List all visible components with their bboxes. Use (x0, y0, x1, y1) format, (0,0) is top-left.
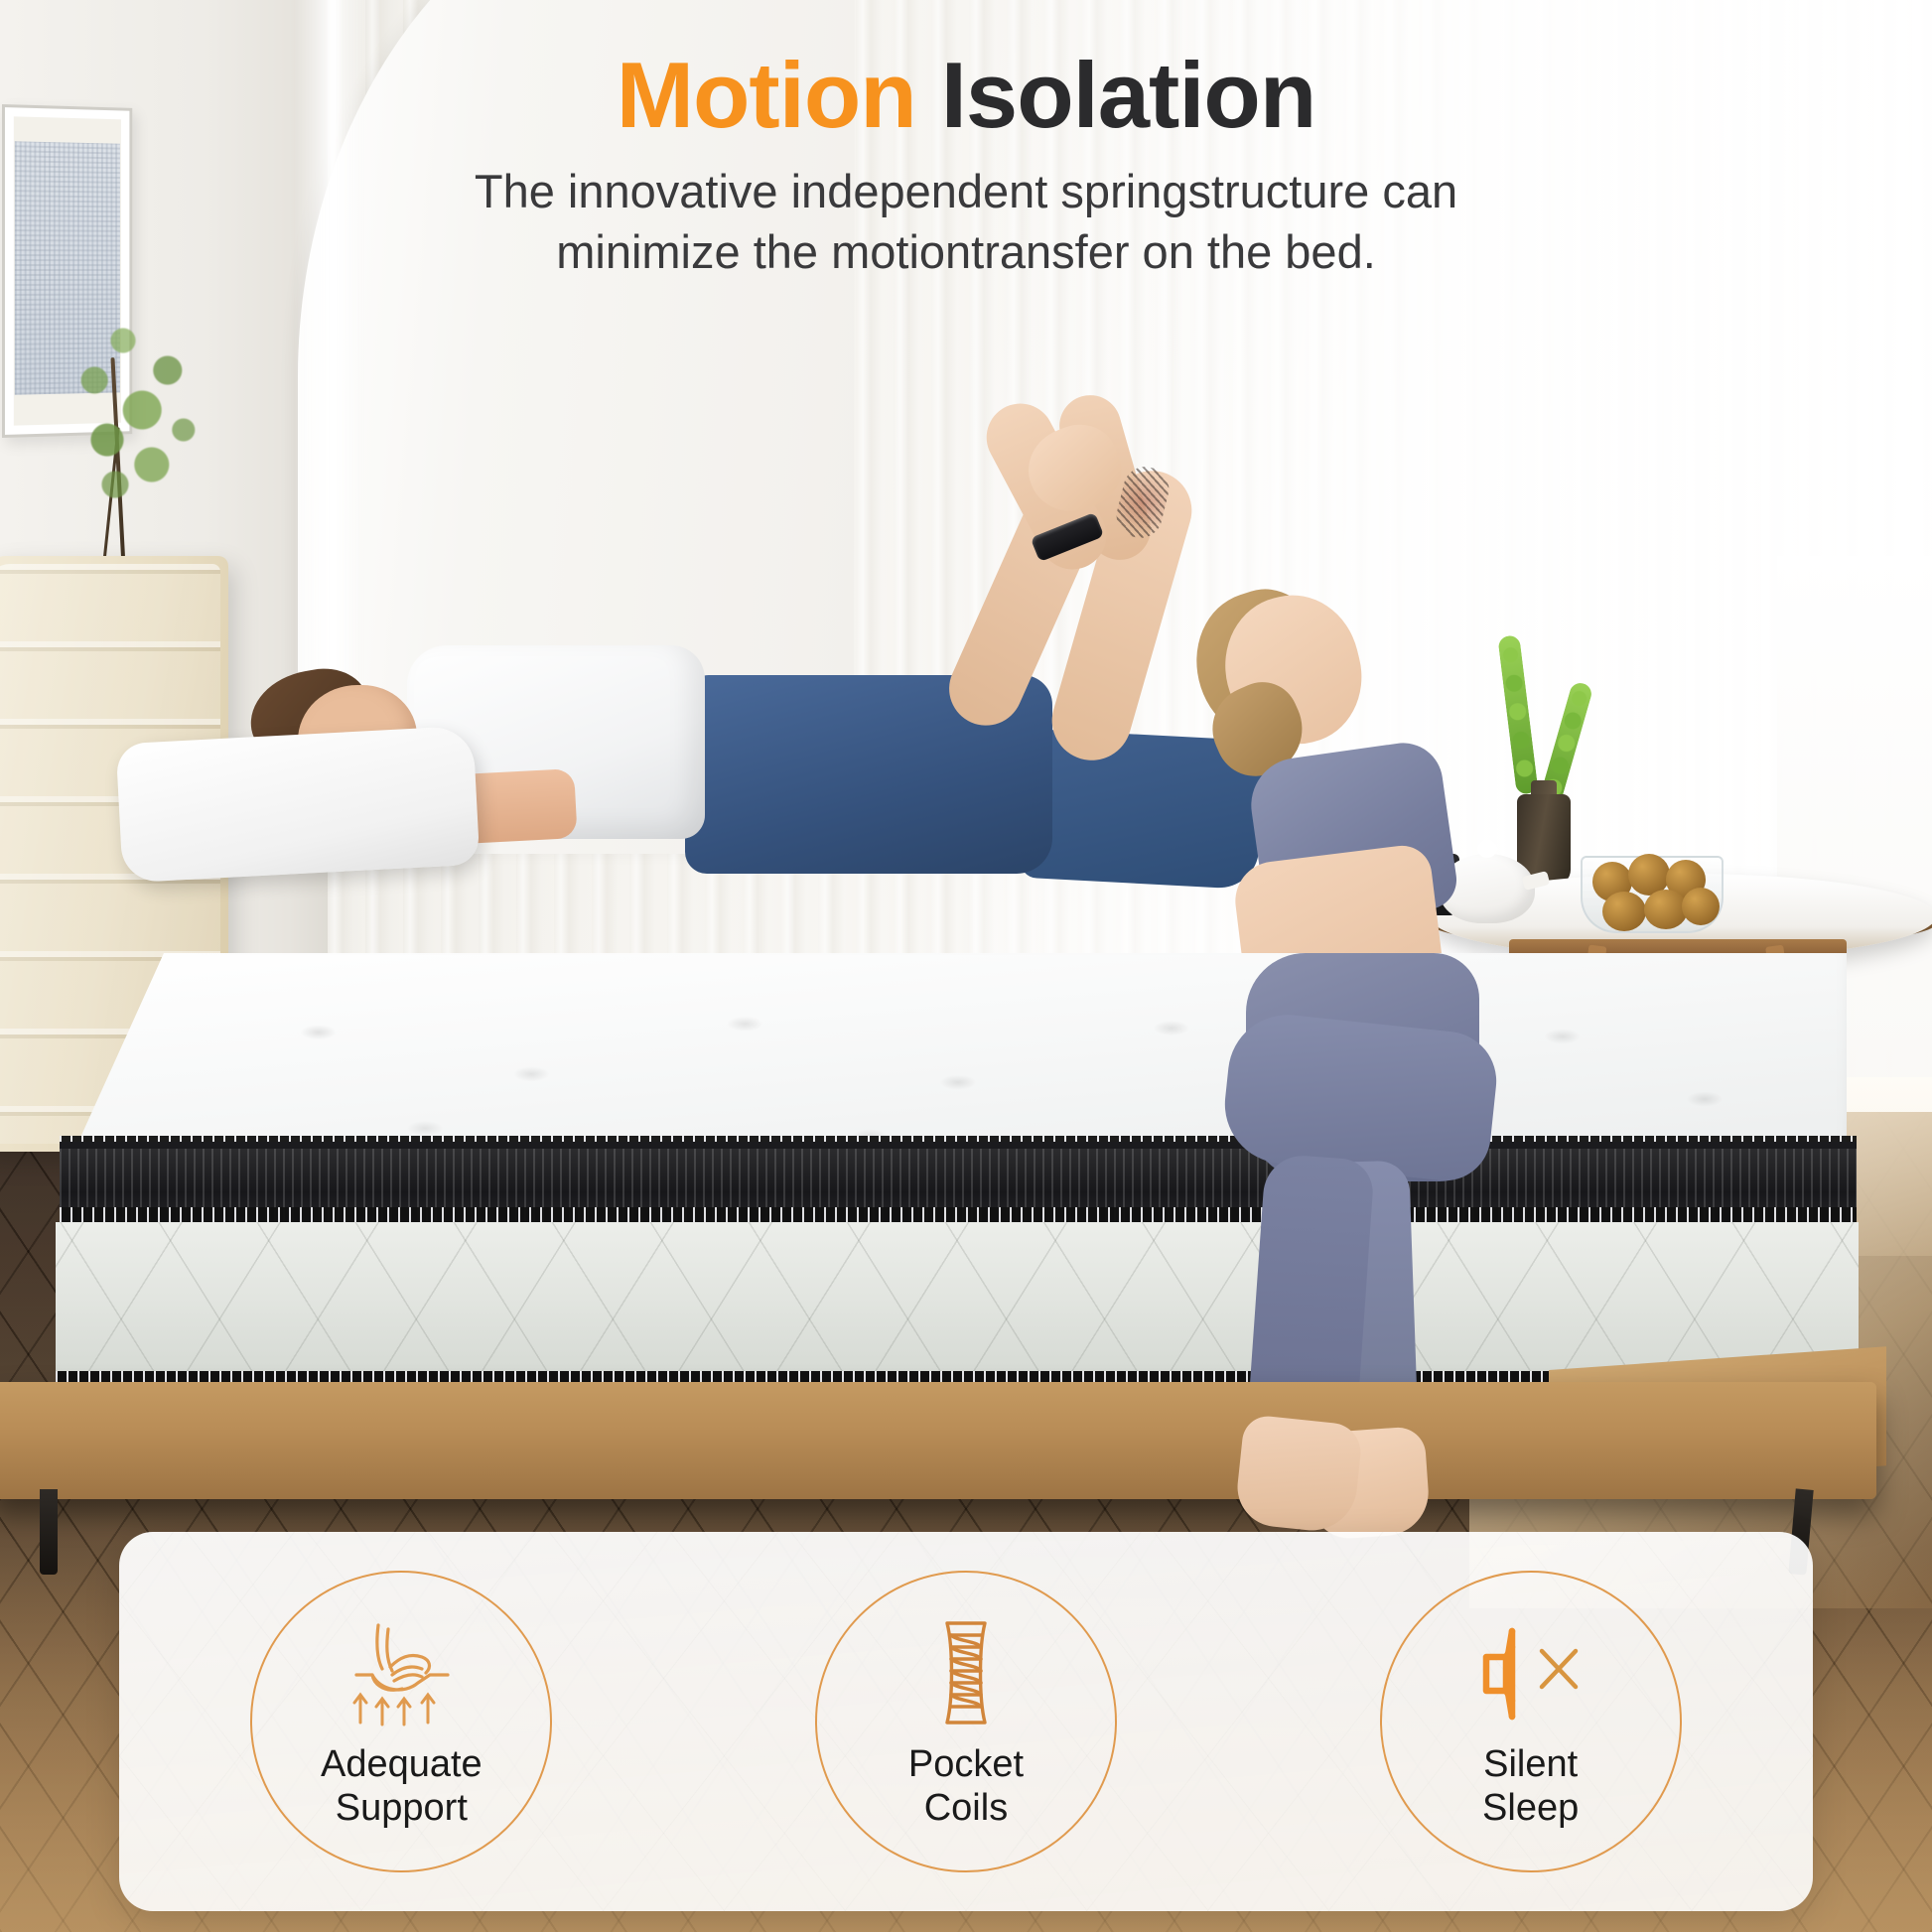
product-marketing-image: Motion Isolation The innovative independ… (0, 0, 1932, 1932)
plant-stalk (1497, 634, 1538, 794)
pocket-coil-spring-icon (892, 1613, 1040, 1732)
feature-label-line-2: Coils (924, 1787, 1008, 1829)
feature-panel: Adequate Support (119, 1532, 1813, 1911)
white-pillow (116, 726, 481, 884)
feature-label: Pocket Coils (908, 1742, 1024, 1830)
page-title: Motion Isolation (0, 48, 1932, 143)
woman-foot-front (1234, 1414, 1364, 1535)
hand-press-support-icon (327, 1613, 476, 1732)
kiwi-fruit (1602, 892, 1646, 931)
feature-label: Adequate Support (321, 1742, 483, 1830)
headline-accent-word: Motion (617, 43, 916, 147)
mattress-tufting-dimples (69, 953, 1847, 1162)
headline-block: Motion Isolation The innovative independ… (0, 48, 1932, 282)
tree-foliage (60, 266, 218, 514)
green-plant (1489, 635, 1618, 804)
feature-adequate-support[interactable]: Adequate Support (250, 1571, 552, 1872)
feature-label-line-1: Pocket (908, 1743, 1024, 1785)
muted-speaker-icon (1456, 1613, 1605, 1732)
headline-rest: Isolation (916, 43, 1316, 147)
subtitle-line-1: The innovative independent springstructu… (475, 165, 1457, 217)
feature-pocket-coils[interactable]: Pocket Coils (815, 1571, 1117, 1872)
feature-label-line-2: Support (336, 1787, 468, 1829)
feature-label-line-2: Sleep (1482, 1787, 1579, 1829)
subtitle-line-2: minimize the motiontransfer on the bed. (556, 225, 1376, 278)
bed-leg-left (40, 1489, 58, 1575)
woman-thigh (1219, 1009, 1501, 1184)
feature-silent-sleep[interactable]: Silent Sleep (1380, 1571, 1682, 1872)
mattress-trim-lower (60, 1207, 1857, 1222)
subtitle: The innovative independent springstructu… (380, 161, 1552, 282)
feature-label-line-1: Silent (1483, 1743, 1578, 1785)
teapot-lid-knob (1477, 840, 1497, 858)
feature-label-line-1: Adequate (321, 1743, 483, 1785)
bed-base (0, 1382, 1876, 1499)
kiwi-fruit (1682, 888, 1720, 925)
mattress-diamond-quilting (56, 1222, 1859, 1373)
feature-label: Silent Sleep (1482, 1742, 1579, 1830)
